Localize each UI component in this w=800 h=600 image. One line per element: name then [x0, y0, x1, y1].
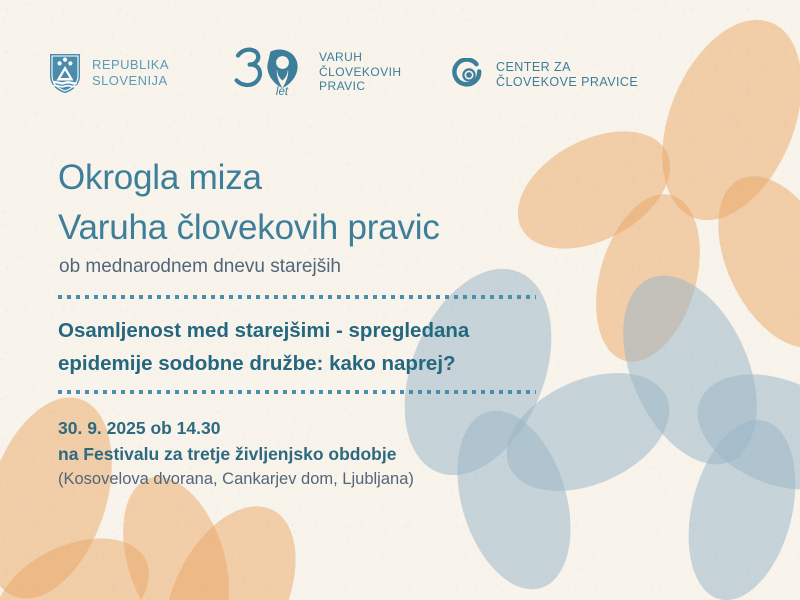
poster-content: Okrogla miza Varuha človekovih pravic ob… [0, 0, 800, 600]
poster-canvas: .o { fill:#e9a86a; fill-opacity:.52; } .… [0, 0, 800, 600]
divider-top [58, 295, 536, 299]
event-venue: na Festivalu za tretje življenjsko obdob… [58, 444, 396, 465]
event-title-line1: Okrogla miza [58, 158, 262, 198]
event-date: 30. 9. 2025 ob 14.30 [58, 418, 220, 439]
topic-line1: Osamljenost med starejšimi - spregledana [58, 319, 469, 343]
event-location: (Kosovelova dvorana, Cankarjev dom, Ljub… [58, 470, 414, 489]
event-title-line2: Varuha človekovih pravic [58, 208, 440, 248]
topic-line2: epidemije sodobne družbe: kako naprej? [58, 352, 456, 376]
event-subtitle: ob mednarodnem dnevu starejših [59, 256, 341, 278]
divider-bottom [58, 390, 536, 394]
